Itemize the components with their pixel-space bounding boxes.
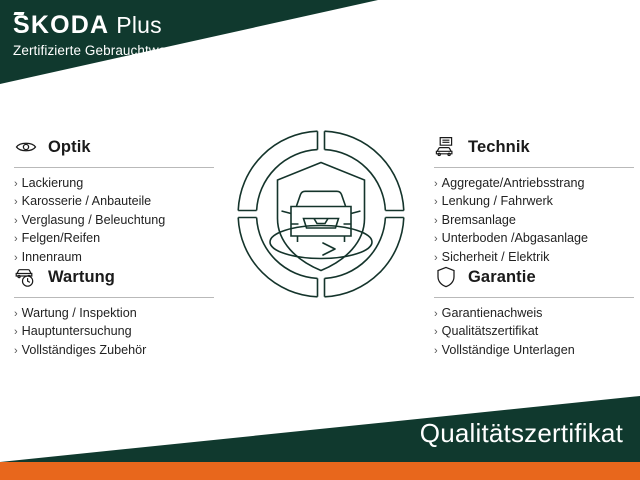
chevron-right-icon: › [14,306,18,323]
brand-tagline: Zertifizierte Gebrauchtwagen [13,44,189,58]
list-item: ›Garantienachweis [434,305,634,323]
orbit-arrow-head [323,243,335,255]
list-item: ›Lenkung / Fahrwerk [434,193,634,211]
list-item: ›Lackierung [14,175,214,193]
list-item: ›Vollständiges Zubehör [14,342,214,360]
list-item-label: Felgen/Reifen [22,230,100,247]
list-item-label: Lenkung / Fahrwerk [442,193,553,210]
brand-skoda-wordmark: SKODA [13,13,109,38]
section-garantie: Garantie ›Garantienachweis ›Qualitätszer… [434,262,634,360]
outer-segmented-ring [238,131,404,297]
car-clock-icon [14,265,38,289]
section-title: Optik [48,138,91,157]
chevron-right-icon: › [14,231,18,248]
section-header: Optik [14,132,214,162]
list-item-label: Vollständiges Zubehör [22,342,147,359]
chevron-right-icon: › [14,213,18,230]
brand-skoda-text: SKODA [13,11,109,39]
shield-icon [434,265,458,289]
section-list: ›Garantienachweis ›Qualitätszertifikat ›… [434,305,634,360]
list-item: ›Hauptuntersuchung [14,323,214,341]
chevron-right-icon: › [434,176,438,193]
list-item: ›Verglasung / Beleuchtung [14,212,214,230]
section-divider [434,297,634,298]
ring-gap-ticks [238,131,404,297]
car-front-illustration [282,191,361,242]
brand-plus-text: Plus [116,14,162,37]
section-list: ›Wartung / Inspektion ›Hauptuntersuchung… [14,305,214,360]
chevron-right-icon: › [14,176,18,193]
eye-icon [14,135,38,159]
section-divider [14,167,214,168]
chevron-right-icon: › [14,324,18,341]
list-item: ›Bremsanlage [434,212,634,230]
chevron-right-icon: › [434,343,438,360]
list-item-label: Hauptuntersuchung [22,323,132,340]
section-title: Technik [468,138,530,157]
list-item-label: Verglasung / Beleuchtung [22,212,166,229]
car-document-icon [434,135,458,159]
list-item-label: Bremsanlage [442,212,516,229]
section-technik: Technik ›Aggregate/Antriebsstrang ›Lenku… [434,132,634,267]
section-divider [14,297,214,298]
list-item: ›Wartung / Inspektion [14,305,214,323]
car-shield-orbit-emblem [225,118,417,310]
chevron-right-icon: › [434,306,438,323]
footer-title: Qualitätszertifikat [420,418,623,449]
caron-accent-icon [14,12,25,15]
list-item: ›Vollständige Unterlagen [434,342,634,360]
chevron-right-icon: › [434,213,438,230]
section-header: Wartung [14,262,214,292]
section-title: Wartung [48,268,115,287]
chevron-right-icon: › [434,231,438,248]
section-header: Technik [434,132,634,162]
list-item-label: Unterboden /Abgasanlage [442,230,588,247]
brand-lockup: SKODA Plus Zertifizierte Gebrauchtwagen [13,13,189,58]
section-list: ›Aggregate/Antriebsstrang ›Lenkung / Fah… [434,175,634,267]
list-item: ›Aggregate/Antriebsstrang [434,175,634,193]
chevron-right-icon: › [14,194,18,211]
section-divider [434,167,634,168]
section-optik: Optik ›Lackierung ›Karosserie / Anbautei… [14,132,214,267]
section-title: Garantie [468,268,536,287]
list-item-label: Aggregate/Antriebsstrang [442,175,585,192]
list-item: ›Felgen/Reifen [14,230,214,248]
list-item: ›Qualitätszertifikat [434,323,634,341]
certificate-page: SKODA Plus Zertifizierte Gebrauchtwagen … [0,0,640,480]
list-item-label: Garantienachweis [442,305,543,322]
list-item: ›Unterboden /Abgasanlage [434,230,634,248]
section-wartung: Wartung ›Wartung / Inspektion ›Hauptunte… [14,262,214,360]
list-item-label: Vollständige Unterlagen [442,342,575,359]
list-item-label: Lackierung [22,175,84,192]
list-item: ›Karosserie / Anbauteile [14,193,214,211]
chevron-right-icon: › [434,324,438,341]
section-header: Garantie [434,262,634,292]
list-item-label: Wartung / Inspektion [22,305,137,322]
footer-orange-bar [0,462,640,480]
section-list: ›Lackierung ›Karosserie / Anbauteile ›Ve… [14,175,214,267]
brand-row: SKODA Plus [13,13,189,38]
list-item-label: Karosserie / Anbauteile [22,193,152,210]
chevron-right-icon: › [434,194,438,211]
list-item-label: Qualitätszertifikat [442,323,539,340]
chevron-right-icon: › [14,343,18,360]
